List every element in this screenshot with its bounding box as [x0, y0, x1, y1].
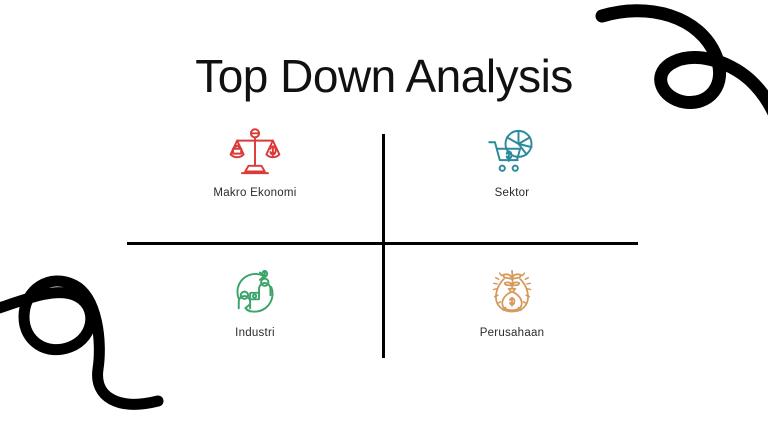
divider-vertical [382, 134, 385, 358]
quadrant-label: Industri [155, 327, 355, 339]
money-bag-plant-gear-icon [486, 266, 538, 318]
quadrant-sektor[interactable]: Sektor [412, 126, 612, 199]
calligraphic-swirl-icon [0, 255, 177, 424]
quadrant-perusahaan[interactable]: Perusahaan [412, 266, 612, 339]
quadrant-label: Perusahaan [412, 327, 612, 339]
page-title: Top Down Analysis [0, 52, 768, 102]
money-exchange-people-icon [229, 266, 281, 318]
quadrant-industri[interactable]: Industri [155, 266, 355, 339]
quadrant-label: Sektor [412, 187, 612, 199]
quadrant-makro-ekonomi[interactable]: Makro Ekonomi [155, 126, 355, 199]
slide-canvas: Top Down Analysis Makro Ekonomi [0, 0, 768, 424]
shopping-cart-pie-chart-icon [486, 126, 538, 178]
balance-scale-icon [229, 126, 281, 178]
quadrant-label: Makro Ekonomi [155, 187, 355, 199]
